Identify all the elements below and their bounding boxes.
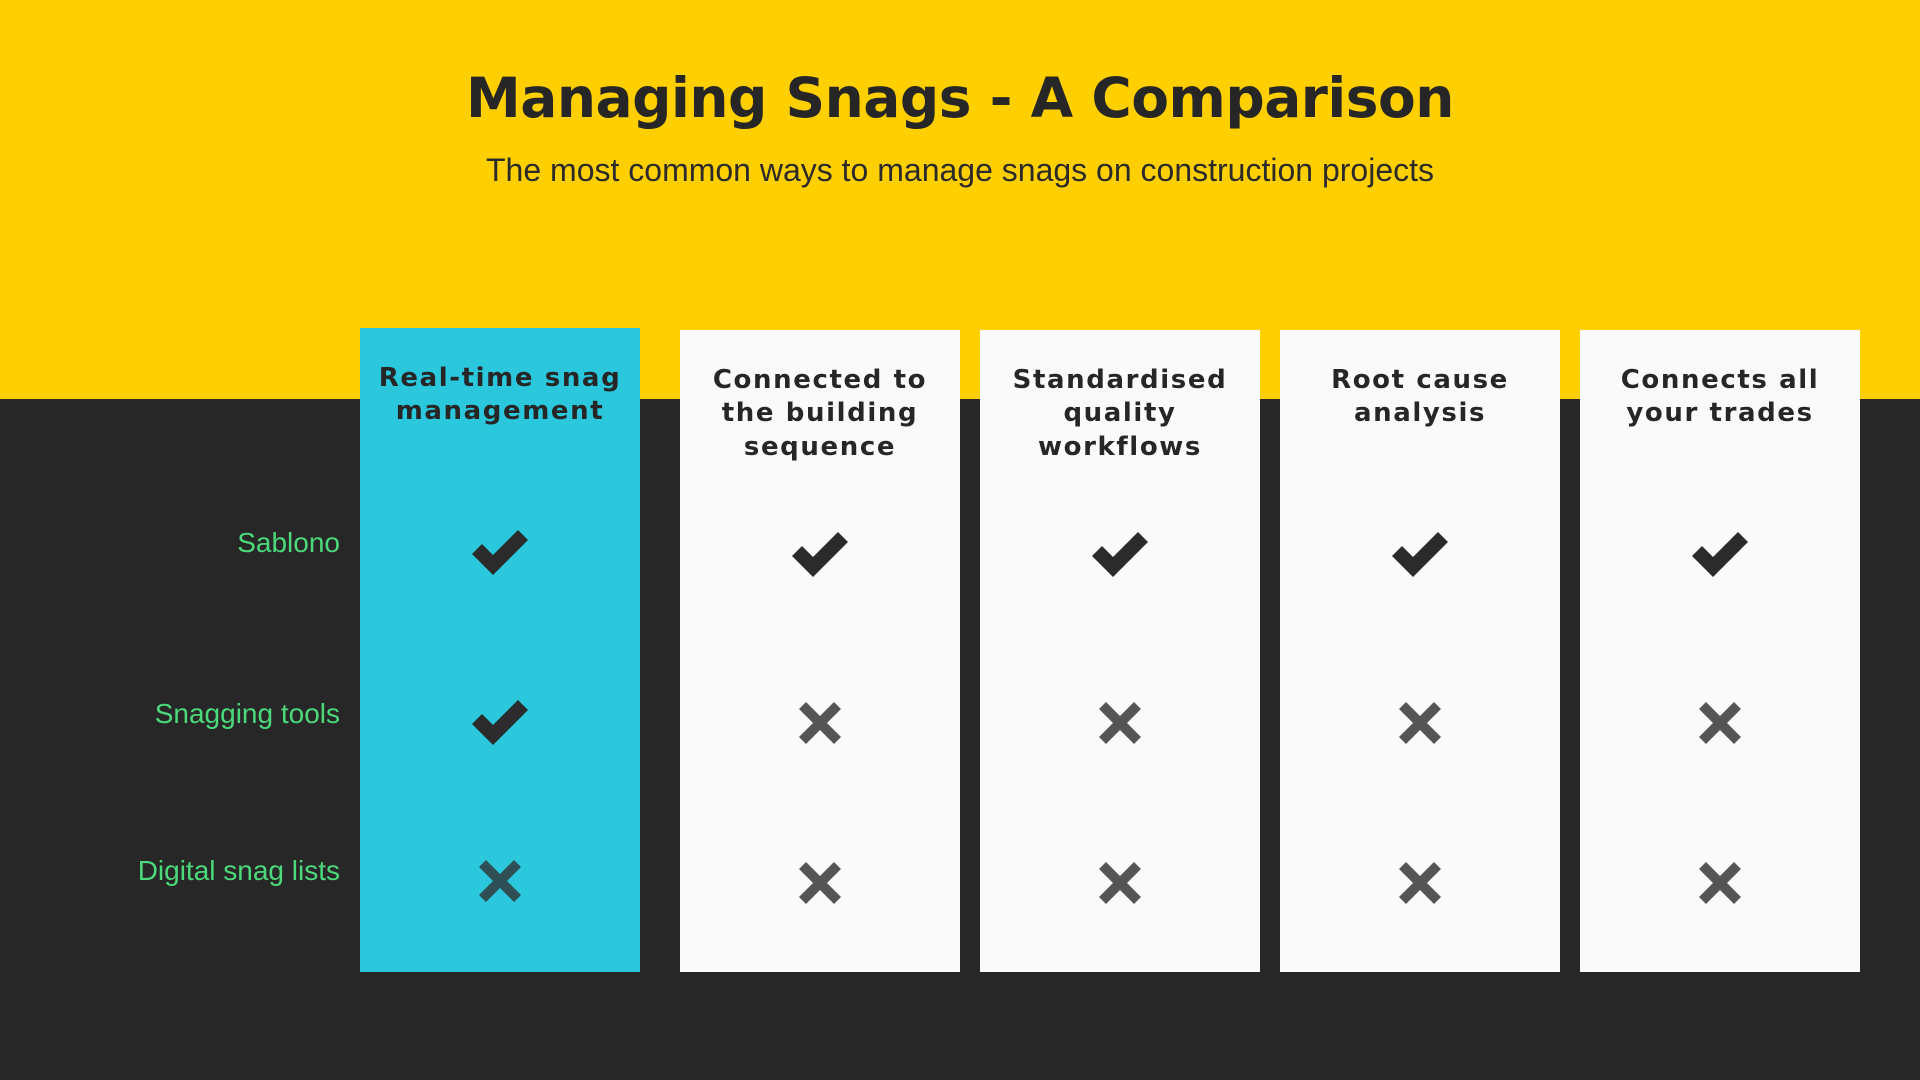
cell-sablono (1280, 518, 1560, 588)
column-cells (360, 328, 640, 972)
cross-icon (474, 855, 526, 907)
comparison-columns: Real-time snag management (0, 0, 1920, 1080)
cross-icon (1094, 697, 1146, 749)
cross-icon (1694, 697, 1746, 749)
cell-sablono (1580, 518, 1860, 588)
cell-sablono (980, 518, 1260, 588)
check-icon (1387, 525, 1453, 581)
column-cells (1580, 330, 1860, 972)
check-icon (467, 693, 533, 749)
cross-icon (1694, 857, 1746, 909)
cell-digital-snag-lists (1280, 848, 1560, 918)
cell-snagging-tools (680, 688, 960, 758)
cross-icon (794, 857, 846, 909)
check-icon (1087, 525, 1153, 581)
cross-icon (794, 697, 846, 749)
column-cells (980, 330, 1260, 972)
comparison-column-connected-to-the-building-sequence[interactable]: Connected to the building sequence (680, 330, 960, 972)
cell-snagging-tools (1280, 688, 1560, 758)
comparison-column-connects-all-your-trades[interactable]: Connects all your trades (1580, 330, 1860, 972)
cross-icon (1094, 857, 1146, 909)
cell-snagging-tools (980, 688, 1260, 758)
cell-sablono (360, 516, 640, 586)
check-icon (467, 523, 533, 579)
check-icon (1687, 525, 1753, 581)
cross-icon (1394, 857, 1446, 909)
cell-snagging-tools (360, 686, 640, 756)
cell-snagging-tools (1580, 688, 1860, 758)
comparison-infographic: Managing Snags - A Comparison The most c… (0, 0, 1920, 1080)
cross-icon (1394, 697, 1446, 749)
check-icon (787, 525, 853, 581)
comparison-column-real-time-snag-management[interactable]: Real-time snag management (360, 328, 640, 972)
comparison-column-root-cause-analysis[interactable]: Root cause analysis (1280, 330, 1560, 972)
cell-sablono (680, 518, 960, 588)
cell-digital-snag-lists (1580, 848, 1860, 918)
column-cells (1280, 330, 1560, 972)
column-cells (680, 330, 960, 972)
cell-digital-snag-lists (360, 846, 640, 916)
comparison-column-standardised-quality-workflows[interactable]: Standardised quality workflows (980, 330, 1260, 972)
cell-digital-snag-lists (980, 848, 1260, 918)
cell-digital-snag-lists (680, 848, 960, 918)
